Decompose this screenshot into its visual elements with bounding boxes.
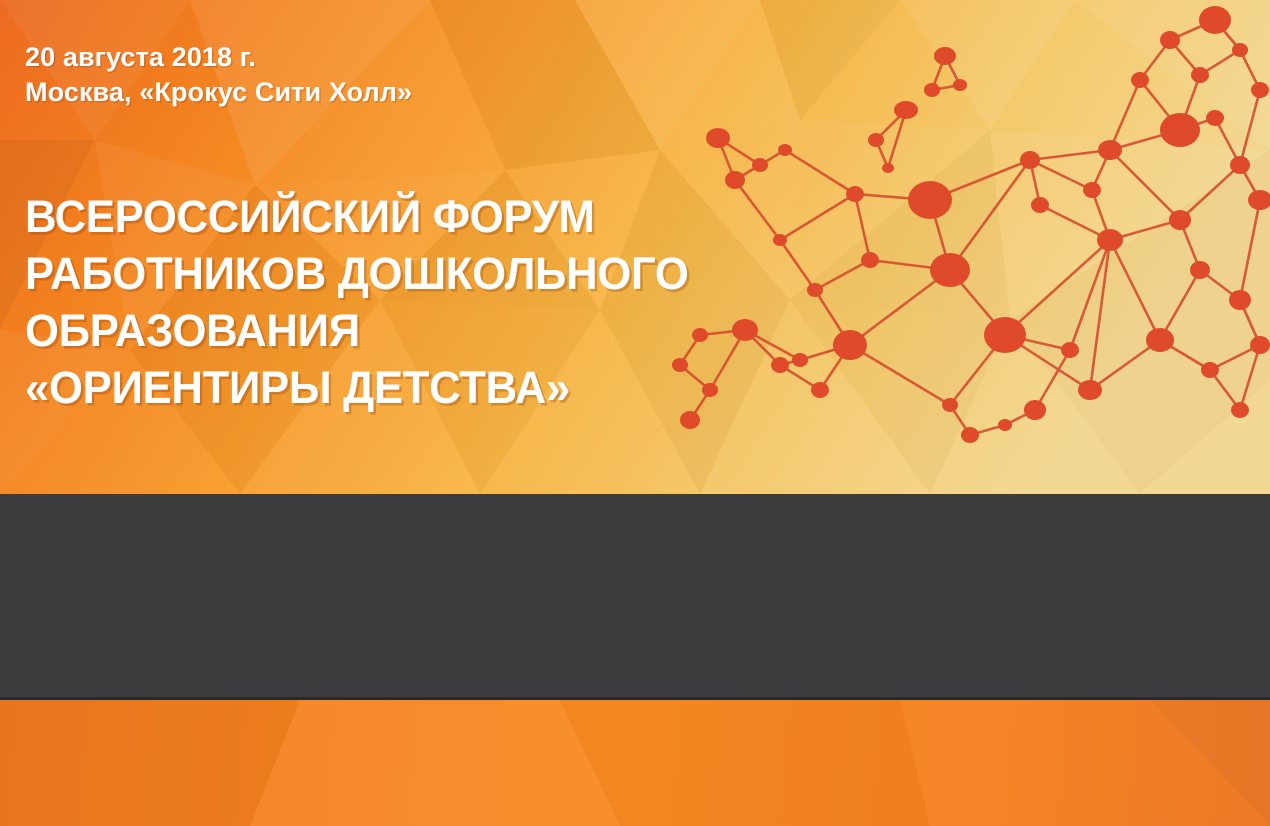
event-date-block: 20 августа 2018 г. Москва, «Крокус Сити …: [25, 40, 412, 110]
russia-network-map-icon: [640, 0, 1270, 490]
event-title-block: ВСЕРОССИЙСКИЙ ФОРУМ РАБОТНИКОВ ДОШКОЛЬНО…: [25, 188, 709, 416]
event-title-line-2: РАБОТНИКОВ ДОШКОЛЬНОГО: [25, 245, 689, 302]
event-title-line-3: ОБРАЗОВАНИЯ: [25, 302, 689, 359]
event-promo-banner: 20 августа 2018 г. Москва, «Крокус Сити …: [0, 0, 1270, 826]
event-title-line-1: ВСЕРОССИЙСКИЙ ФОРУМ: [25, 188, 689, 245]
features-bar: [0, 494, 1270, 700]
hero-background: 20 августа 2018 г. Москва, «Крокус Сити …: [0, 0, 1270, 494]
event-title-line-4: «ОРИЕНТИРЫ ДЕТСТВА»: [25, 359, 689, 416]
footer-low-poly-icon: [0, 700, 1270, 826]
footer-orange-strip: [0, 700, 1270, 826]
event-venue: Москва, «Крокус Сити Холл»: [25, 75, 412, 110]
event-date: 20 августа 2018 г.: [25, 40, 412, 75]
